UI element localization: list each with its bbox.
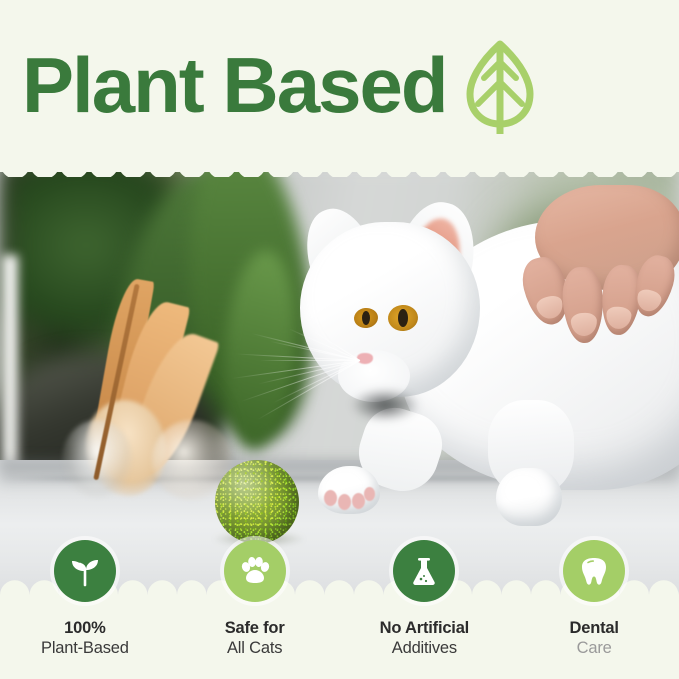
- page-title: Plant Based: [22, 46, 446, 124]
- feature-item-safe-for-cats[interactable]: Safe for All Cats: [170, 540, 340, 679]
- feature-label-line1: Dental: [570, 618, 619, 638]
- feature-label-line1: 100%: [41, 618, 129, 638]
- header-content: Plant Based: [22, 36, 536, 134]
- feather-toy: [60, 270, 240, 500]
- fingernail: [535, 294, 566, 322]
- feature-icon-circle: [393, 540, 455, 602]
- paw-toe: [324, 490, 337, 506]
- tooth-icon: [578, 555, 610, 587]
- feature-label-line1: Safe for: [225, 618, 285, 638]
- fingernail: [570, 312, 597, 336]
- fingernail: [605, 306, 632, 330]
- feature-label: Safe for All Cats: [225, 618, 285, 658]
- paw-toe: [364, 487, 375, 501]
- feature-icon-circle: [54, 540, 116, 602]
- feature-label-line2: All Cats: [225, 638, 285, 658]
- feature-label-line2: Additives: [380, 638, 469, 658]
- feature-item-plant-based[interactable]: 100% Plant-Based: [0, 540, 170, 679]
- paw-toe: [352, 493, 365, 509]
- feature-icon-circle: [563, 540, 625, 602]
- human-hand: [505, 185, 679, 350]
- header-banner: Plant Based: [0, 0, 679, 172]
- feature-icon-circle: [224, 540, 286, 602]
- fingernail: [634, 287, 663, 314]
- cat-pupil-right: [398, 309, 408, 327]
- cat-pupil-left: [362, 311, 370, 325]
- leaf-icon: [464, 38, 536, 134]
- paw-toe: [338, 494, 351, 510]
- sprout-icon: [68, 554, 102, 588]
- paw-icon: [238, 554, 272, 588]
- feature-list: 100% Plant-Based Safe for All Cats: [0, 540, 679, 679]
- feature-label-line2: Plant-Based: [41, 638, 129, 658]
- cat-chin-shadow: [350, 388, 420, 422]
- feature-item-dental-care[interactable]: Dental Care: [509, 540, 679, 679]
- feature-item-no-additives[interactable]: No Artificial Additives: [340, 540, 510, 679]
- feature-label-line1: No Artificial: [380, 618, 469, 638]
- feature-label: Dental Care: [570, 618, 619, 658]
- product-feature-card: Plant Based: [0, 0, 679, 679]
- cat-paw-back: [496, 468, 562, 526]
- product-photo: [0, 160, 679, 600]
- feature-label: 100% Plant-Based: [41, 618, 129, 658]
- cat-paw-front: [318, 466, 380, 514]
- catnip-ball-texture: [215, 460, 299, 544]
- flask-icon: [408, 555, 440, 587]
- feature-label: No Artificial Additives: [380, 618, 469, 658]
- feature-label-line2: Care: [570, 638, 619, 658]
